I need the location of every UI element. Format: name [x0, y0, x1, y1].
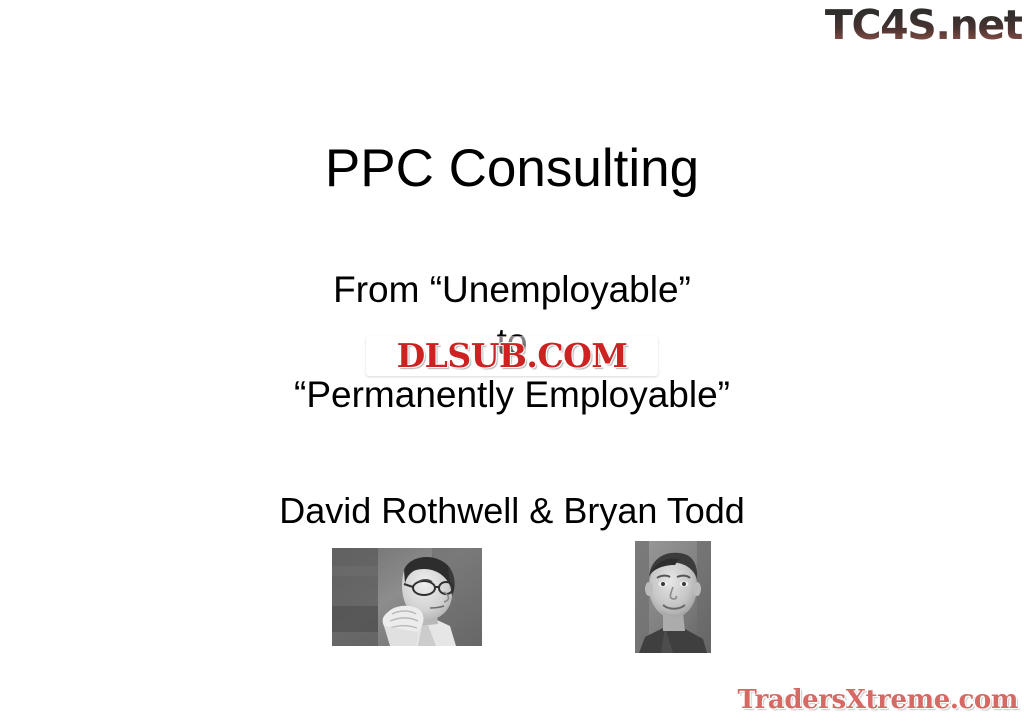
bryan-todd-photo-graphic [635, 541, 711, 653]
authors-line: David Rothwell & Bryan Todd [0, 489, 1024, 533]
dlsub-com-watermark-text: DLSUB.COM [397, 336, 628, 375]
page-title: PPC Consulting [0, 138, 1024, 200]
presentation-slide: TC4S.net PPC Consulting From “Unemployab… [0, 0, 1024, 724]
bryan-todd-photo [635, 541, 711, 653]
tc4s-net-logo: TC4S.net [822, 2, 1022, 50]
dlsub-com-watermark: DLSUB.COM [366, 336, 658, 376]
tradersxtreme-com-watermark: TradersXtreme.com [718, 684, 1018, 716]
subtitle-line-from: From “Unemployable” [0, 262, 1024, 317]
david-rothwell-photo [332, 548, 482, 646]
david-rothwell-photo-graphic [332, 548, 482, 646]
